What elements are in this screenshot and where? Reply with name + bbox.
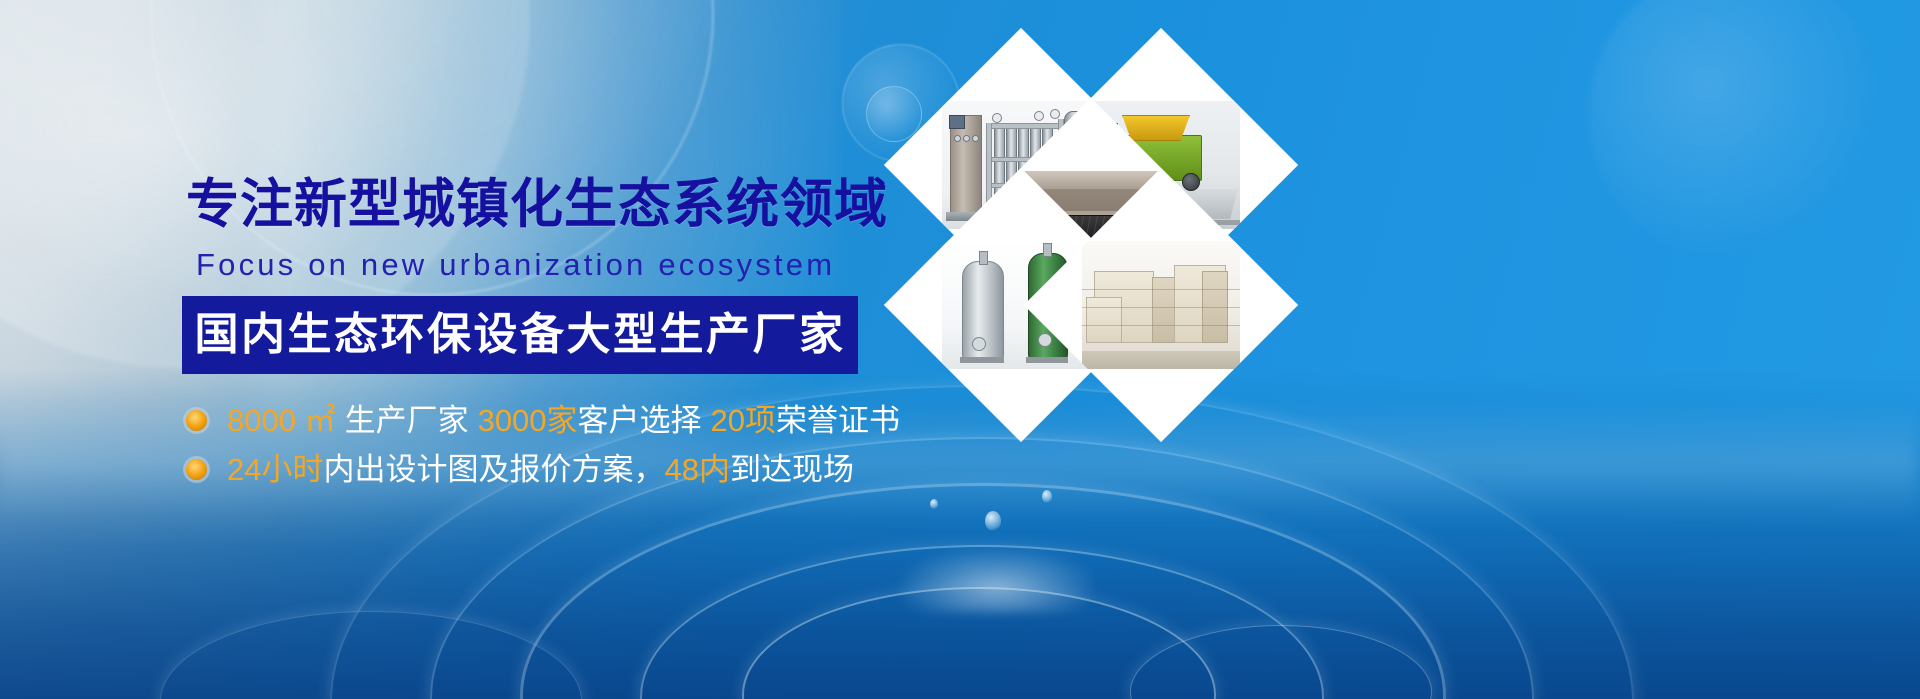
highlight-ribbon: 国内生态环保设备大型生产厂家 — [182, 296, 858, 374]
list-item: 8000 ㎡生产厂家3000家客户选择20项荣誉证书 — [186, 396, 900, 445]
page-title: 专注新型城镇化生态系统领域 — [186, 178, 888, 231]
banner-text-block: 专注新型城镇化生态系统领域 Focus on new urbanization … — [0, 0, 960, 699]
page-subtitle: Focus on new urbanization ecosystem — [196, 249, 835, 280]
aac-blocks-stack-photo — [1082, 241, 1240, 369]
list-item-label: 24小时内出设计图及报价方案，48内到达现场 — [227, 454, 854, 485]
promo-banner: 专注新型城镇化生态系统领域 Focus on new urbanization … — [0, 0, 1920, 699]
bullet-dot-icon — [186, 459, 207, 480]
list-item-label: 8000 ㎡生产厂家3000家客户选择20项荣誉证书 — [227, 405, 900, 436]
feature-list: 8000 ㎡生产厂家3000家客户选择20项荣誉证书 24小时内出设计图及报价方… — [186, 396, 900, 494]
water-droplet — [985, 511, 1001, 531]
water-droplet — [1042, 490, 1052, 503]
highlight-ribbon-label: 国内生态环保设备大型生产厂家 — [195, 313, 846, 357]
bullet-dot-icon — [186, 410, 207, 431]
product-photo-collage — [918, 62, 1338, 482]
list-item: 24小时内出设计图及报价方案，48内到达现场 — [186, 445, 900, 494]
